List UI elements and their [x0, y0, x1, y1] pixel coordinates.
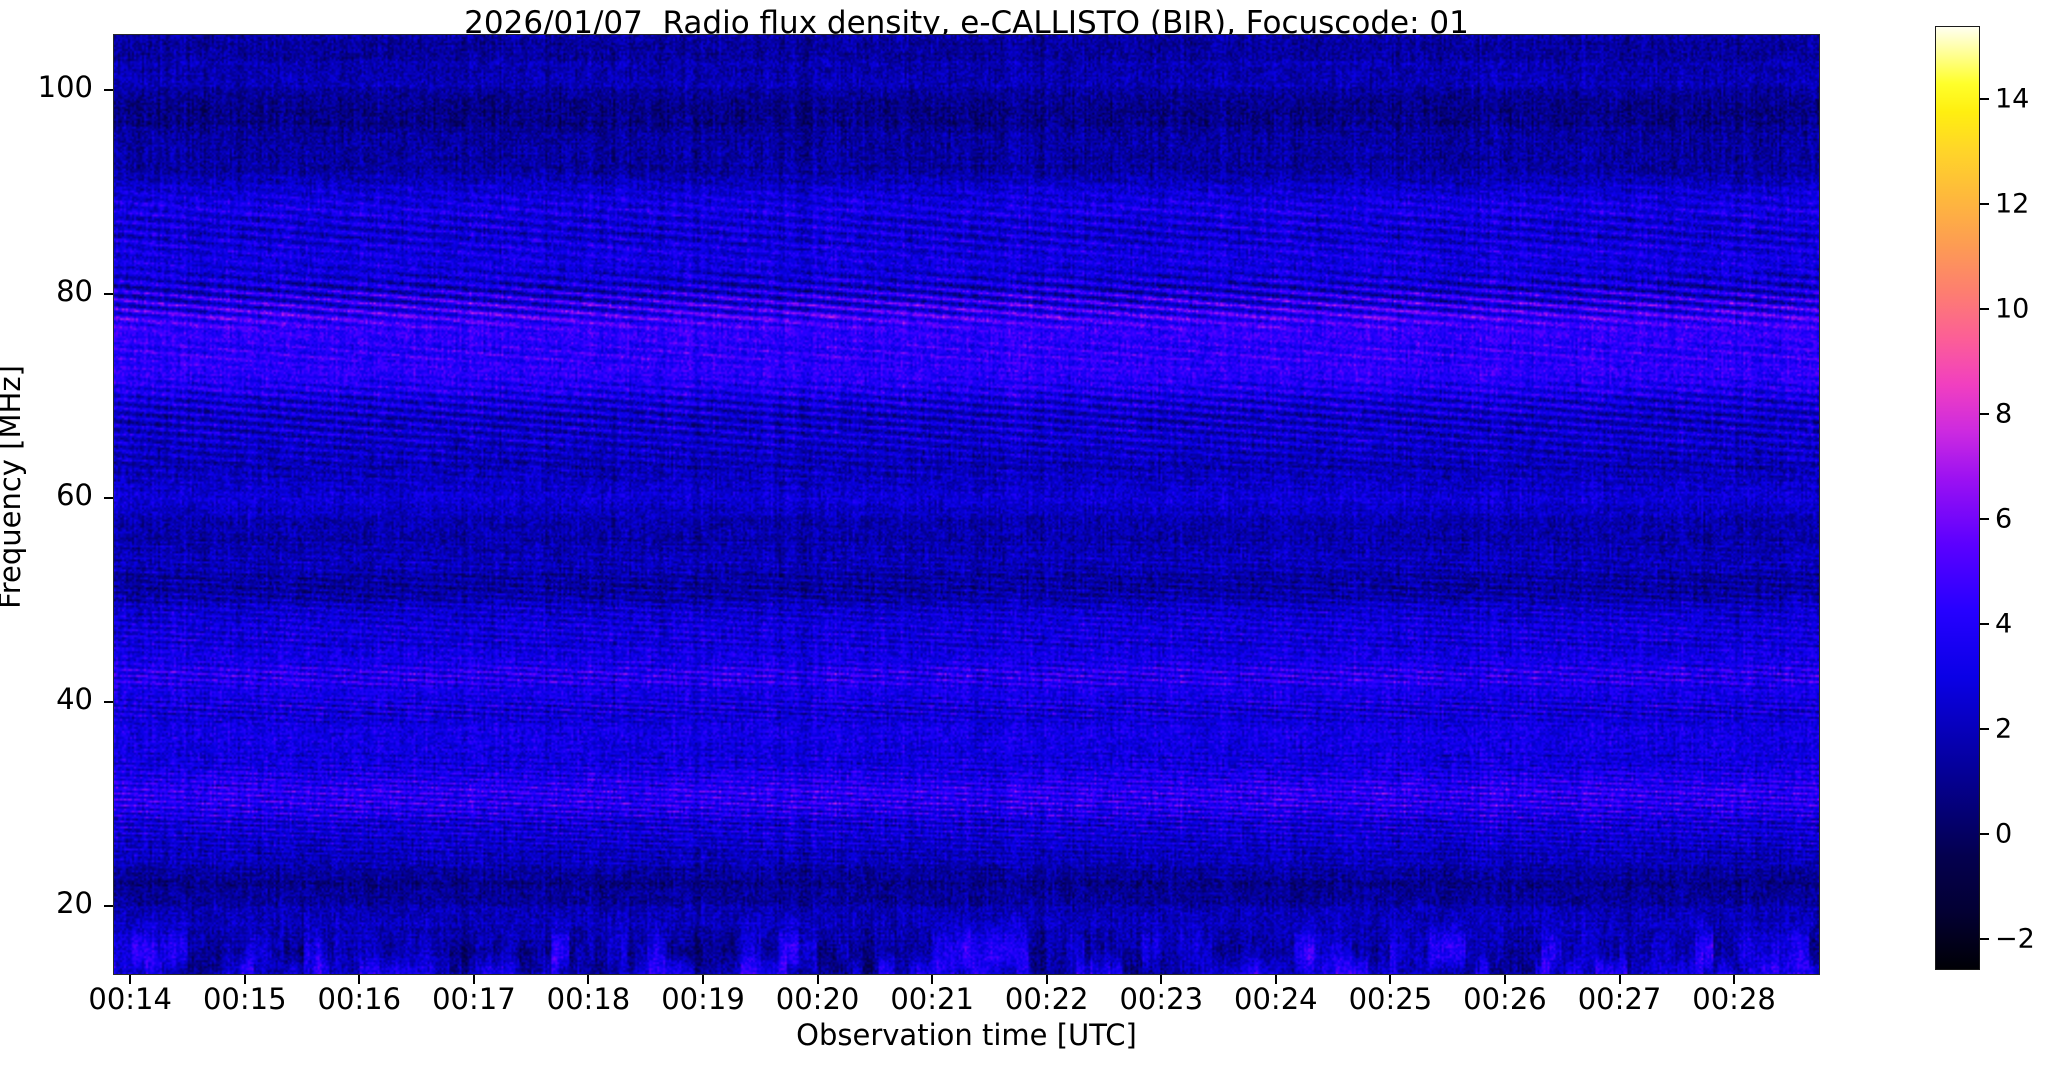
y-tick-mark	[104, 497, 113, 499]
y-tick-mark	[104, 89, 113, 91]
colorbar-tick-label: 8	[1995, 399, 2012, 430]
y-tick-label: 60	[0, 478, 93, 512]
y-tick-mark	[104, 293, 113, 295]
x-tick-label: 00:27	[1578, 982, 1662, 1016]
y-tick-label: 80	[0, 274, 93, 308]
y-tick-label: 20	[0, 886, 93, 920]
colorbar-tick-label: 6	[1995, 503, 2012, 534]
colorbar-tick-label: 12	[1995, 189, 2029, 220]
x-tick-label: 00:18	[547, 982, 631, 1016]
x-tick-label: 00:16	[318, 982, 402, 1016]
spectrogram-image	[114, 35, 1819, 974]
colorbar-tick-mark	[1980, 833, 1989, 835]
figure-canvas: 2026/01/07 Radio flux density, e-CALLIST…	[0, 0, 2066, 1067]
x-tick-label: 00:14	[88, 982, 172, 1016]
colorbar-tick-label: 4	[1995, 608, 2012, 639]
colorbar-tick-label: −2	[1995, 923, 2035, 954]
colorbar-tick-label: 10	[1995, 294, 2029, 325]
spectrogram-plot-area[interactable]	[113, 34, 1820, 975]
y-tick-mark	[104, 701, 113, 703]
y-tick-label: 40	[0, 682, 93, 716]
colorbar-tick-mark	[1980, 623, 1989, 625]
x-tick-label: 00:25	[1349, 982, 1433, 1016]
colorbar-tick-mark	[1980, 518, 1989, 520]
colorbar-tick-label: 14	[1995, 84, 2029, 115]
x-tick-label: 00:19	[661, 982, 745, 1016]
x-axis-label: Observation time [UTC]	[113, 1018, 1820, 1052]
x-tick-label: 00:17	[432, 982, 516, 1016]
x-tick-label: 00:15	[203, 982, 287, 1016]
colorbar-tick-mark	[1980, 413, 1989, 415]
y-tick-label: 100	[0, 70, 93, 104]
colorbar[interactable]: −202468101214	[1935, 26, 1980, 970]
colorbar-tick-mark	[1980, 308, 1989, 310]
colorbar-gradient	[1935, 26, 1980, 970]
x-tick-label: 00:24	[1234, 982, 1318, 1016]
colorbar-tick-mark	[1980, 98, 1989, 100]
colorbar-tick-mark	[1980, 728, 1989, 730]
colorbar-tick-mark	[1980, 938, 1989, 940]
x-tick-label: 00:20	[776, 982, 860, 1016]
colorbar-tick-label: 0	[1995, 818, 2012, 849]
colorbar-tick-mark	[1980, 203, 1989, 205]
y-tick-mark	[104, 905, 113, 907]
x-tick-label: 00:28	[1692, 982, 1776, 1016]
x-tick-label: 00:22	[1005, 982, 1089, 1016]
x-tick-label: 00:23	[1119, 982, 1203, 1016]
colorbar-tick-label: 2	[1995, 713, 2012, 744]
x-tick-label: 00:21	[890, 982, 974, 1016]
x-tick-label: 00:26	[1463, 982, 1547, 1016]
